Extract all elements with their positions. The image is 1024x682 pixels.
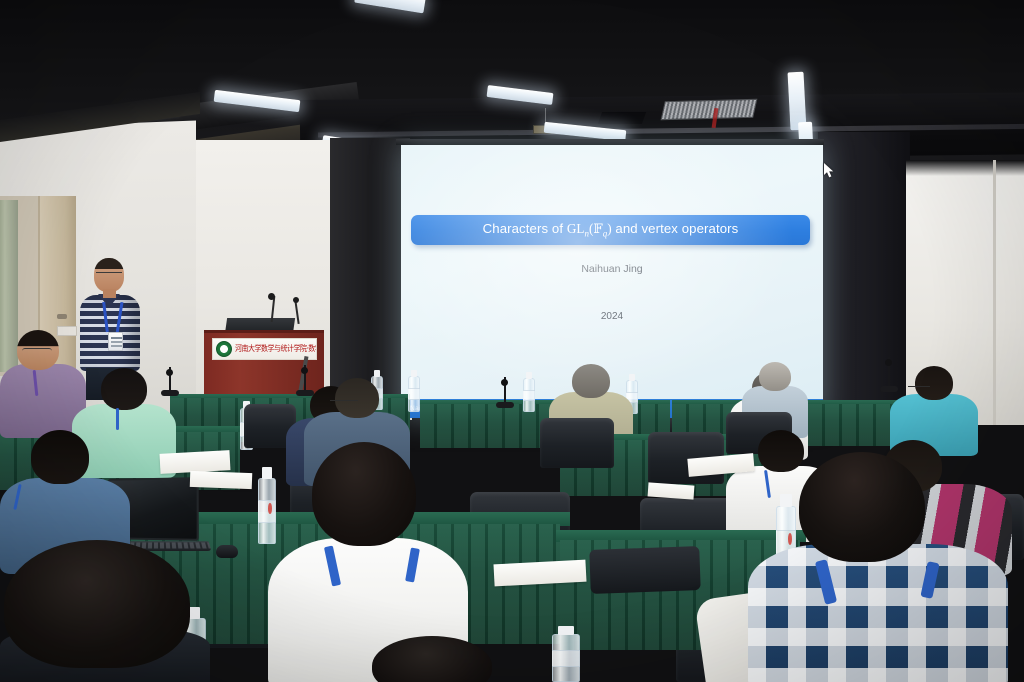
attendee-dark-head-front xyxy=(0,540,210,682)
laptop-bag xyxy=(589,546,700,594)
air-vent-icon xyxy=(661,99,758,120)
water-bottle xyxy=(523,378,535,412)
dark-wall-panel xyxy=(330,138,410,418)
glasses-icon xyxy=(96,272,122,277)
attendee-dark-head-front xyxy=(372,636,492,682)
chair[interactable] xyxy=(540,418,614,468)
desk-microphone xyxy=(500,382,512,408)
glasses-icon xyxy=(330,400,358,405)
computer-mouse[interactable] xyxy=(216,545,238,558)
paper-stack xyxy=(648,482,695,499)
presenter-neck xyxy=(103,289,116,298)
name-badge xyxy=(108,332,123,351)
lanyard xyxy=(116,408,119,430)
right-wall-shadow xyxy=(906,160,1024,176)
attendee-plaid-shirt-front xyxy=(748,452,1008,682)
podium-microphone-head xyxy=(293,297,299,303)
slide-title-bar: Characters of GLn(𝔽q) and vertex operato… xyxy=(411,215,810,245)
slide-year: 2024 xyxy=(401,311,823,322)
glasses-icon xyxy=(908,386,930,390)
door-handle[interactable] xyxy=(57,314,67,319)
slide-author: Naihuan Jing xyxy=(401,263,823,275)
projector-housing xyxy=(598,112,646,124)
wall-seam xyxy=(993,160,996,425)
podium-microphone-head xyxy=(268,293,275,300)
water-bottle xyxy=(552,634,580,682)
podium-banner: 河南大学数学与统计学院·数学物理与代数研究所 xyxy=(212,338,317,360)
paper-stack xyxy=(190,471,253,489)
slide-title: Characters of GLn(𝔽q) and vertex operato… xyxy=(483,221,739,239)
university-seal-icon xyxy=(216,341,232,357)
lecture-hall-photo: Characters of GLn(𝔽q) and vertex operato… xyxy=(0,0,1024,682)
glasses-icon xyxy=(22,348,52,354)
podium-banner-text: 河南大学数学与统计学院·数学物理与代数研究所 xyxy=(235,344,317,355)
